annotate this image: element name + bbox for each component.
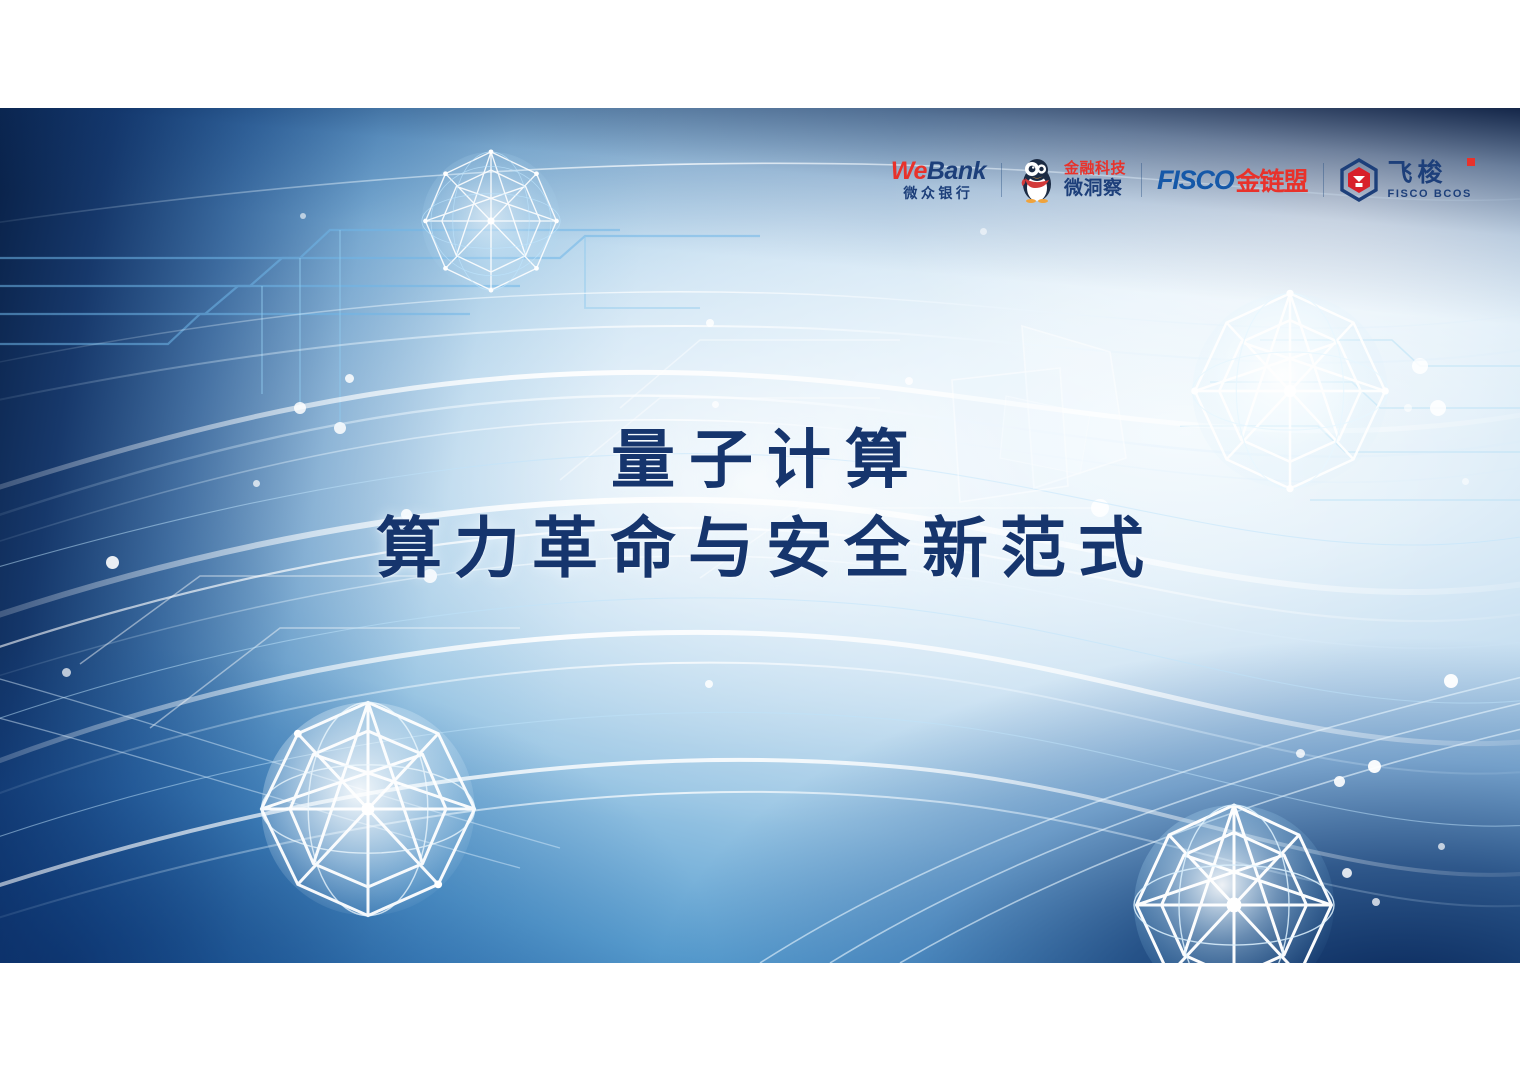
fisco-wordmark: FISCO xyxy=(1157,165,1234,196)
weidongcha-line1: 金融科技 xyxy=(1064,160,1126,178)
webank-chinese-name: 微众银行 xyxy=(903,185,973,202)
particle-dots-decoration xyxy=(0,108,1520,963)
webank-wordmark-bank: Bank xyxy=(927,157,986,185)
hexagon-shuttle-icon xyxy=(1339,158,1379,202)
logo-fisco-bcos[interactable]: 飞梭 FISCO BCOS xyxy=(1339,152,1472,208)
logo-divider xyxy=(1323,163,1324,197)
logo-fisco-jinlianmeng[interactable]: FISCO 金链盟 xyxy=(1157,152,1308,208)
logo-webank[interactable]: WeBank 微众银行 xyxy=(891,152,986,208)
logo-divider xyxy=(1001,163,1002,197)
logo-weidongcha[interactable]: 金融科技 微洞察 xyxy=(1017,152,1126,208)
title-slide: WeBank 微众银行 xyxy=(0,108,1520,963)
fisco-chinese-name: 金链盟 xyxy=(1236,162,1308,198)
logo-divider xyxy=(1141,163,1142,197)
partner-logo-bar: WeBank 微众银行 xyxy=(891,152,1472,208)
bcos-latin-name: FISCO BCOS xyxy=(1388,187,1472,201)
trademark-mark xyxy=(1467,158,1475,166)
weidongcha-line2: 微洞察 xyxy=(1064,178,1126,200)
penguin-icon xyxy=(1017,157,1057,203)
bcos-chinese-name: 飞梭 xyxy=(1388,160,1472,187)
webank-wordmark: WeBank xyxy=(891,158,986,185)
webank-wordmark-we: We xyxy=(891,157,927,185)
